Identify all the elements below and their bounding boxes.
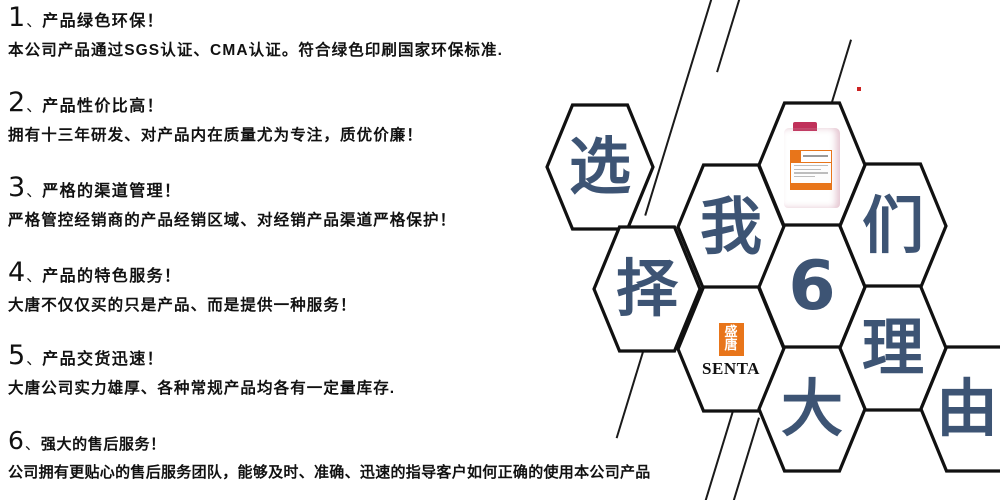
label-footer-bar [791, 183, 831, 189]
label-line [794, 176, 815, 177]
label-text-lines [791, 163, 831, 181]
hexagon-xuan: 选 [545, 103, 655, 231]
brand-seal-icon: 盛 唐 [719, 323, 744, 356]
hexagon-label: 择 [616, 258, 678, 320]
label-title-line [801, 151, 831, 162]
brand-name: SENTA [702, 359, 760, 379]
hexagon-you: 由 [919, 345, 1000, 473]
label-header [791, 151, 831, 163]
product-jerrycan-image [781, 122, 843, 208]
hexagon-cluster: 选 择 我 盛 唐 SENTA [0, 0, 1000, 500]
hexagon-label: 由 [936, 378, 998, 440]
hexagon-label: 大 [781, 378, 843, 440]
label-line [794, 172, 828, 173]
label-line [794, 169, 821, 170]
hexagon-label: 选 [569, 136, 631, 198]
label-logo-block [791, 151, 801, 162]
brand-seal-char-bottom: 唐 [724, 339, 737, 352]
promo-banner: 1 、 产品绿色环保！ 本公司产品通过SGS认证、CMA认证。符合绿色印刷国家环… [0, 0, 1000, 500]
brand-logo: 盛 唐 SENTA [702, 323, 760, 379]
hexagon-label: 理 [862, 317, 924, 379]
hexagon-label: 们 [862, 195, 924, 257]
jerrycan-label [790, 150, 832, 190]
label-line [794, 165, 828, 166]
hexagon-men: 们 [838, 162, 948, 290]
hexagon-label: 我 [700, 196, 762, 258]
hexagon-label: 6 [788, 253, 835, 321]
